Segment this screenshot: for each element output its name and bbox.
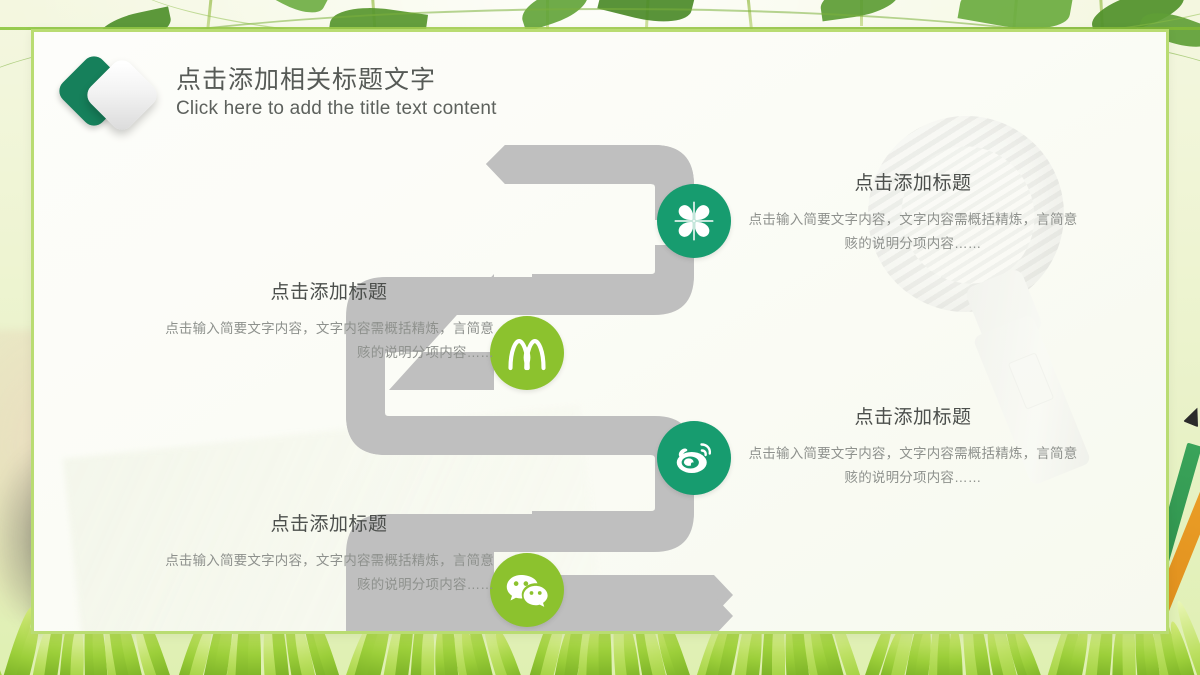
item-title: 点击添加标题 bbox=[164, 509, 494, 536]
item-description: 点击输入简要文字内容，文字内容需概括精炼，言简意赅的说明分项内容…… bbox=[748, 442, 1078, 489]
grass-blade bbox=[0, 628, 5, 675]
slide-panel: 点击添加相关标题文字 Click here to add the title t… bbox=[31, 29, 1169, 634]
node-leaf-arch-logo[interactable] bbox=[490, 316, 564, 390]
node-weibo[interactable] bbox=[657, 421, 731, 495]
wechat-icon bbox=[503, 566, 551, 614]
item-description: 点击输入简要文字内容，文字内容需概括精炼，言简意赅的说明分项内容…… bbox=[748, 208, 1078, 255]
item-block-4: 点击添加标题 点击输入简要文字内容，文字内容需概括精炼，言简意赅的说明分项内容…… bbox=[164, 509, 494, 596]
item-title: 点击添加标题 bbox=[748, 402, 1078, 429]
four-leaf-clover-icon bbox=[670, 197, 718, 245]
leaf-arch-logo-icon bbox=[503, 329, 551, 377]
item-block-1: 点击添加标题 点击输入简要文字内容，文字内容需概括精炼，言简意赅的说明分项内容…… bbox=[748, 168, 1078, 255]
item-description: 点击输入简要文字内容，文字内容需概括精炼，言简意赅的说明分项内容…… bbox=[164, 317, 494, 364]
item-title: 点击添加标题 bbox=[164, 277, 494, 304]
item-block-2: 点击添加标题 点击输入简要文字内容，文字内容需概括精炼，言简意赅的说明分项内容…… bbox=[164, 277, 494, 364]
pencil-tip-decoration bbox=[1183, 405, 1200, 428]
item-title: 点击添加标题 bbox=[748, 168, 1078, 195]
item-block-3: 点击添加标题 点击输入简要文字内容，文字内容需概括精炼，言简意赅的说明分项内容…… bbox=[748, 402, 1078, 489]
node-four-leaf-clover[interactable] bbox=[657, 184, 731, 258]
item-description: 点击输入简要文字内容，文字内容需概括精炼，言简意赅的说明分项内容…… bbox=[164, 549, 494, 596]
node-wechat[interactable] bbox=[490, 553, 564, 627]
weibo-icon bbox=[670, 434, 718, 482]
